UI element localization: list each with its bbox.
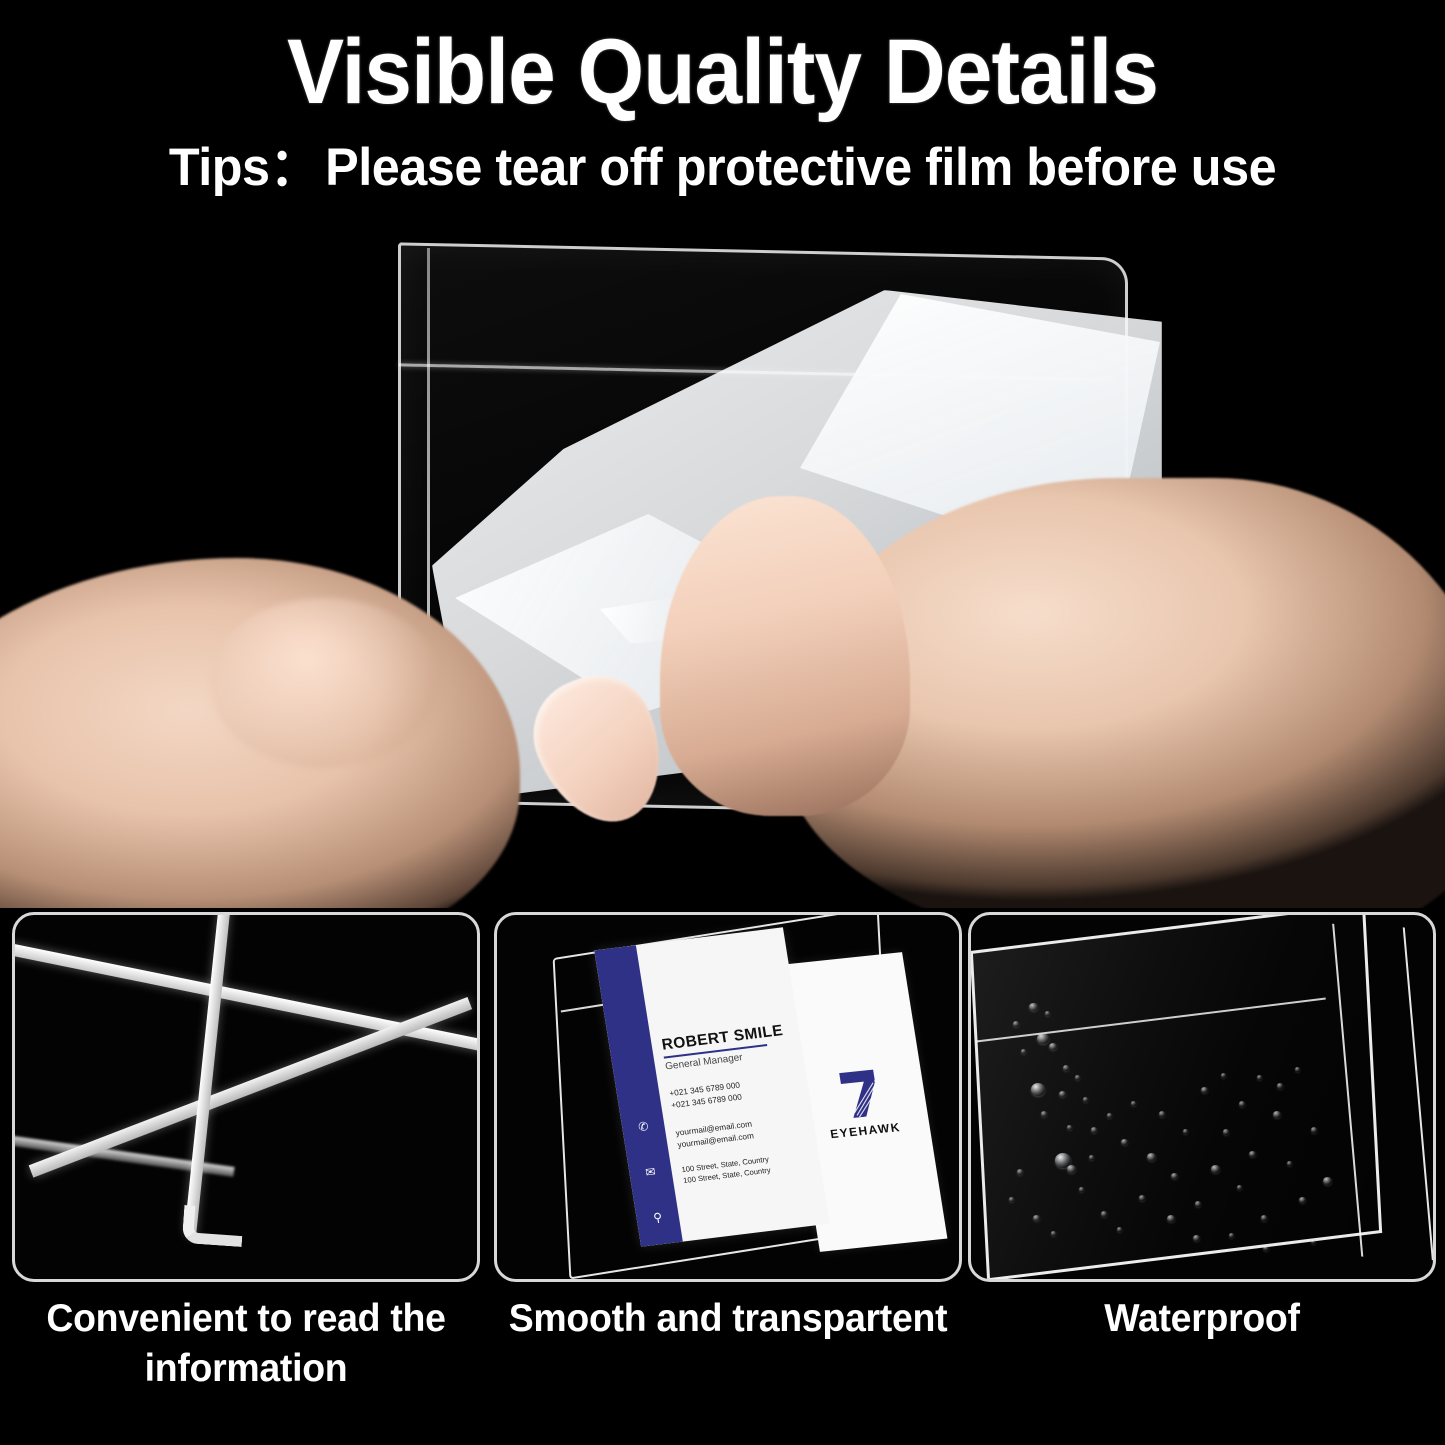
caption-smooth: Smooth and transpartent [503, 1294, 952, 1344]
water-droplet [1021, 1049, 1026, 1054]
tips-text: Please tear off protective film before u… [325, 138, 1276, 197]
knuckle-highlight [210, 598, 440, 768]
water-droplet [1037, 1033, 1049, 1044]
water-droplet [1183, 1129, 1188, 1134]
water-droplet [1101, 1211, 1107, 1217]
acrylic-foot [182, 1205, 245, 1247]
header-block: Visible Quality Details Tips：Please tear… [0, 0, 1445, 197]
tips-line: Tips：Please tear off protective film bef… [36, 121, 1409, 197]
water-droplet [1311, 1239, 1316, 1244]
water-droplet [1013, 1021, 1019, 1027]
water-droplet [1131, 1101, 1136, 1106]
water-droplet [1159, 1111, 1165, 1117]
card-phones: +021 345 6789 000 +021 345 6789 000 [669, 1072, 804, 1112]
water-droplet [1031, 1083, 1045, 1096]
water-droplet [1295, 1067, 1300, 1072]
caption-convenient: Convenient to read the information [21, 1294, 470, 1394]
brand-name: EYEHAWK [829, 1120, 901, 1141]
panel-captions: Convenient to read the information Smoot… [0, 1294, 1445, 1444]
water-droplet [1287, 1161, 1292, 1166]
water-droplet [1075, 1075, 1080, 1080]
caption-waterproof: Waterproof [977, 1294, 1426, 1344]
water-droplet [1083, 1097, 1088, 1102]
water-droplet [1263, 1245, 1269, 1251]
panel-convenient [12, 912, 480, 1282]
tips-label: Tips： [169, 138, 320, 197]
water-droplet [1221, 1073, 1226, 1078]
water-droplet [1239, 1101, 1245, 1107]
water-droplet [1017, 1169, 1023, 1175]
feature-panels: EYEHAWK ✆ ✉ ⚲ ROBERT SMILE General Manag… [0, 912, 1445, 1282]
water-droplet [1195, 1201, 1201, 1207]
water-droplet [1107, 1113, 1112, 1118]
water-droplet [1089, 1155, 1094, 1160]
acrylic-top-plate [12, 941, 480, 1064]
water-droplet [1041, 1111, 1047, 1117]
water-droplet [1229, 1233, 1234, 1238]
acrylic-front-plate [184, 912, 230, 1239]
panel-waterproof [968, 912, 1436, 1282]
page-title: Visible Quality Details [51, 0, 1395, 121]
water-droplet [1237, 1185, 1242, 1190]
water-droplet [1009, 1197, 1014, 1202]
water-droplet [1261, 1215, 1267, 1221]
water-droplet [1091, 1127, 1097, 1133]
acrylic-base-plate [29, 997, 472, 1178]
water-droplet [1063, 1065, 1069, 1071]
eyehawk-logo-icon [833, 1065, 887, 1121]
water-droplet [1311, 1127, 1317, 1133]
water-droplet [1277, 1083, 1283, 1089]
water-droplet [1051, 1231, 1056, 1236]
water-droplet [1117, 1227, 1122, 1232]
water-droplet [1257, 1075, 1262, 1080]
card-emails: yourmail@email.com yourmail@email.com [675, 1111, 810, 1151]
acrylic-sheet [970, 912, 1382, 1281]
panel-smooth: EYEHAWK ✆ ✉ ⚲ ROBERT SMILE General Manag… [494, 912, 962, 1282]
water-droplet [1139, 1195, 1145, 1201]
water-droplet [1223, 1129, 1229, 1135]
water-droplet [1045, 1011, 1050, 1016]
water-droplet [1067, 1125, 1072, 1130]
hero-image [0, 228, 1445, 908]
card-address: 100 Street, State, Country 100 Street, S… [681, 1148, 816, 1186]
water-droplet [1079, 1187, 1084, 1192]
